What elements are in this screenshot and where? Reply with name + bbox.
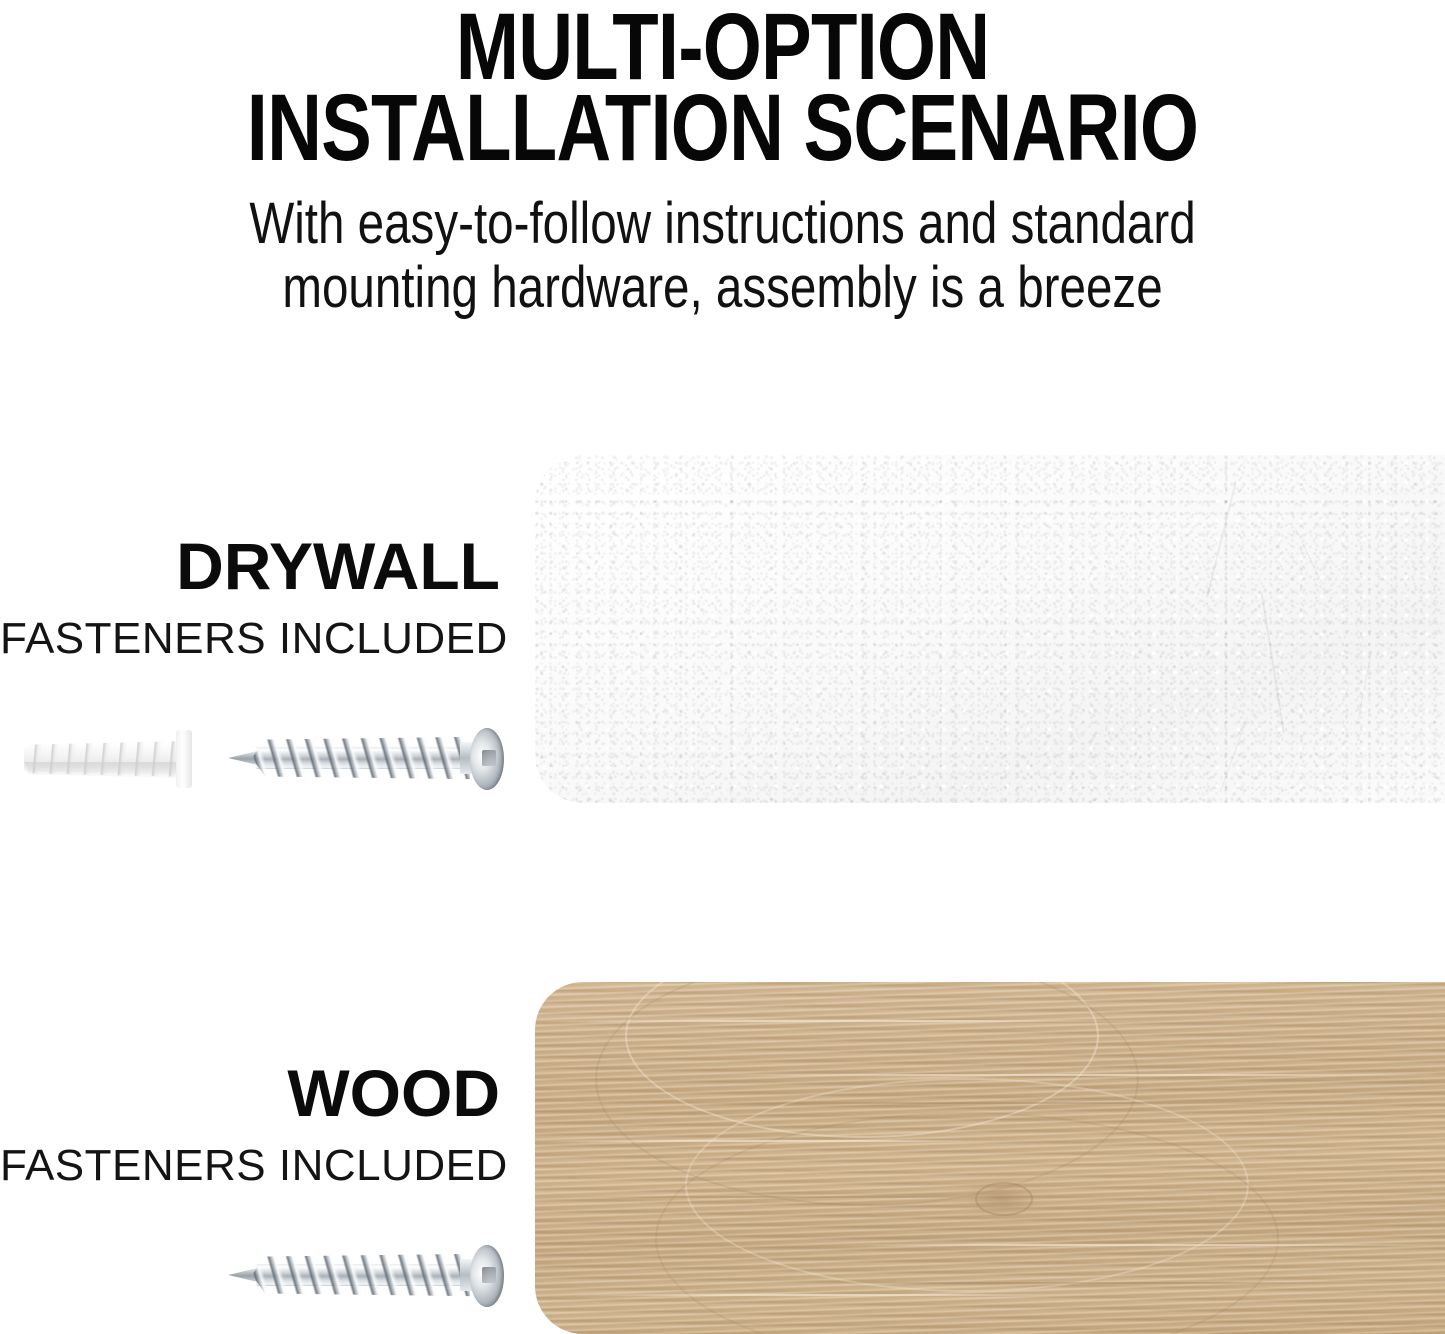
drywall-texture-panel xyxy=(535,455,1445,803)
subtitle-line-1: With easy-to-follow instructions and sta… xyxy=(130,192,1315,256)
wood-grain-streak xyxy=(575,1294,1095,1296)
wood-grain-streak xyxy=(715,1074,1445,1076)
screw-threads xyxy=(252,1253,470,1297)
wood-grain-streak xyxy=(535,1020,1155,1022)
drywall-crack xyxy=(1261,595,1284,734)
section-drywall: DRYWALL FASTENERS INCLUDED xyxy=(0,455,1445,810)
mounting-screw-icon xyxy=(228,1245,510,1307)
wood-grain-streak-dark xyxy=(655,1102,1355,1104)
drywall-label-column: DRYWALL FASTENERS INCLUDED xyxy=(0,533,500,661)
wood-subtitle: FASTENERS INCLUDED xyxy=(0,1144,500,1188)
wood-label-column: WOOD FASTENERS INCLUDED xyxy=(0,1060,500,1188)
section-wood: WOOD FASTENERS INCLUDED xyxy=(0,982,1445,1334)
header: MULTI-OPTION INSTALLATION SCENARIO With … xyxy=(0,0,1445,173)
drywall-crack xyxy=(1206,481,1237,598)
screw-drive-slot xyxy=(482,750,496,766)
drywall-stipple-layer-b xyxy=(535,455,1445,803)
headline-line-2: INSTALLATION SCENARIO xyxy=(145,85,1301,172)
drywall-crack xyxy=(1358,651,1373,720)
page-subtitle: With easy-to-follow instructions and sta… xyxy=(0,192,1445,320)
wood-grain-streak-dark xyxy=(795,1282,1445,1284)
wood-grain-streak xyxy=(835,1244,1445,1246)
wood-fastener-row xyxy=(0,1237,510,1327)
page-title: MULTI-OPTION INSTALLATION SCENARIO xyxy=(0,0,1445,173)
drywall-crack xyxy=(1220,717,1249,793)
drywall-fastener-row xyxy=(0,720,510,810)
screw-threads xyxy=(252,736,470,780)
drywall-stipple-layer-a xyxy=(535,455,1445,803)
drywall-title: DRYWALL xyxy=(0,533,500,599)
screw-drive-slot xyxy=(482,1267,496,1283)
drywall-subtitle: FASTENERS INCLUDED xyxy=(0,617,500,661)
mounting-screw-icon xyxy=(228,728,510,790)
wood-knot-core xyxy=(975,1182,1033,1216)
anchor-collar xyxy=(176,730,192,788)
drywall-crack xyxy=(1295,528,1323,584)
wood-title: WOOD xyxy=(0,1060,500,1126)
wood-grain-streak xyxy=(535,1140,1015,1142)
plastic-wall-anchor-icon xyxy=(18,728,210,790)
wood-texture-panel xyxy=(535,982,1445,1334)
subtitle-line-2: mounting hardware, assembly is a breeze xyxy=(130,256,1315,320)
